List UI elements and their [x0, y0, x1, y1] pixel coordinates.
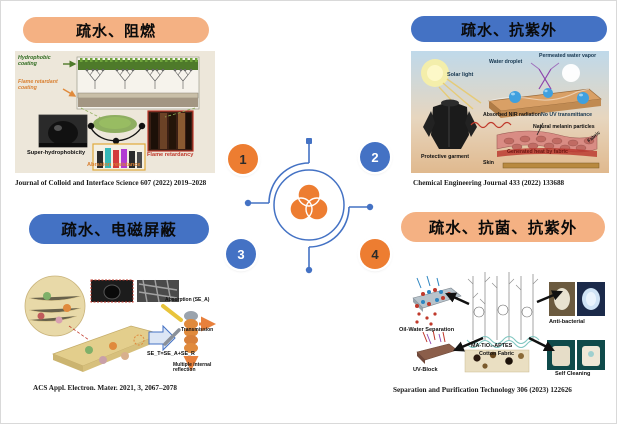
panel-1-label-abrasion-resistance: Abrasion resistance [87, 163, 140, 169]
panel-4-figure: Oil-Water Separation Anti-bacterial UV-B… [397, 254, 611, 382]
panel-2-label-protective-garment: Protective garment [421, 155, 469, 161]
panel-1-citation: Journal of Colloid and Interface Science… [15, 179, 206, 187]
panel-3-title-pill: 疏水、电磁屏蔽 [29, 214, 209, 244]
hub-badge-1[interactable]: 1 [228, 144, 258, 174]
panel-hydrophobic-flame-retardant: 疏水、阻燃 [9, 11, 221, 196]
panel-hydrophobic-uv-resistant: 疏水、抗紫外 [405, 11, 613, 196]
panel-2-label-solar-light: Solar light [447, 73, 473, 79]
panel-2-label-absorbed-nir: Absorbed NIR radiation [483, 113, 541, 118]
panel-1-label-super-hydrophobicity: Super-hydrophobicity [27, 151, 85, 157]
slide-canvas: 疏水、阻燃 [0, 0, 617, 424]
panel-2-label-permeated-vapor: Permeated water vapor [539, 54, 596, 59]
panel-3-label-formula: SE_T=SE_A+SE_R [147, 352, 195, 358]
panel-1-label-flame-retardancy: Flame retardancy [147, 153, 193, 159]
panel-2-label-water-droplet: Water droplet [489, 60, 522, 65]
panel-3-label-transmission: Transmission [181, 328, 213, 333]
hub-badge-3[interactable]: 3 [226, 239, 256, 269]
panel-4-citation: Separation and Purification Technology 3… [393, 386, 572, 394]
panel-4-label-self-cleaning: Self Cleaning [555, 372, 590, 378]
panel-hydrophobic-emi-shielding: 疏水、电磁屏蔽 [9, 206, 223, 396]
panel-3-label-absorption: Absorption (SE_A) [165, 298, 209, 303]
panel-4-label-center-material: MA-TiO₂-APTES [471, 344, 512, 350]
panel-3-figure: Absorption (SE_A) Transmission SE_T=SE_A… [13, 268, 219, 380]
panel-1-title-pill: 疏水、阻燃 [23, 17, 209, 43]
panel-2-title-pill: 疏水、抗紫外 [411, 16, 607, 42]
panel-4-label-center-fabric: Cotton Fabric [479, 352, 514, 358]
panel-2-citation: Chemical Engineering Journal 433 (2022) … [413, 179, 564, 187]
panel-3-citation: ACS Appl. Electron. Mater. 2021, 3, 2067… [33, 384, 177, 392]
panel-4-label-anti-bacterial: Anti-bacterial [549, 320, 585, 326]
panel-1-figure: Hydrophobic coating Flame retardant coat… [15, 51, 215, 173]
panel-4-label-oil-water-separation: Oil-Water Separation [399, 328, 454, 334]
panel-hydrophobic-antibacterial-uv: 疏水、抗菌、抗紫外 [393, 206, 613, 398]
panel-2-label-generated-heat: Generated heat by fabric [507, 150, 568, 155]
hub-badge-4[interactable]: 4 [360, 239, 390, 269]
panel-4-title-pill: 疏水、抗菌、抗紫外 [401, 212, 605, 242]
panel-4-label-uv-block: UV-Block [413, 368, 438, 374]
panel-3-label-multiple-internal-reflection: Multiple internal reflection [173, 363, 213, 374]
panel-2-label-no-uv-transmittance: No UV transmittance [541, 113, 592, 118]
hub-badge-2[interactable]: 2 [360, 142, 390, 172]
panel-2-figure: Solar light Water droplet Permeated wate… [411, 51, 609, 173]
panel-2-label-melanin: Natural melanin particles [533, 125, 595, 130]
panel-2-label-skin: Skin [483, 161, 494, 166]
panel-1-label-flame-retardant-coating: Flame retardant coating [18, 80, 62, 91]
panel-1-label-hydrophobic-coating: Hydrophobic coating [18, 56, 60, 67]
